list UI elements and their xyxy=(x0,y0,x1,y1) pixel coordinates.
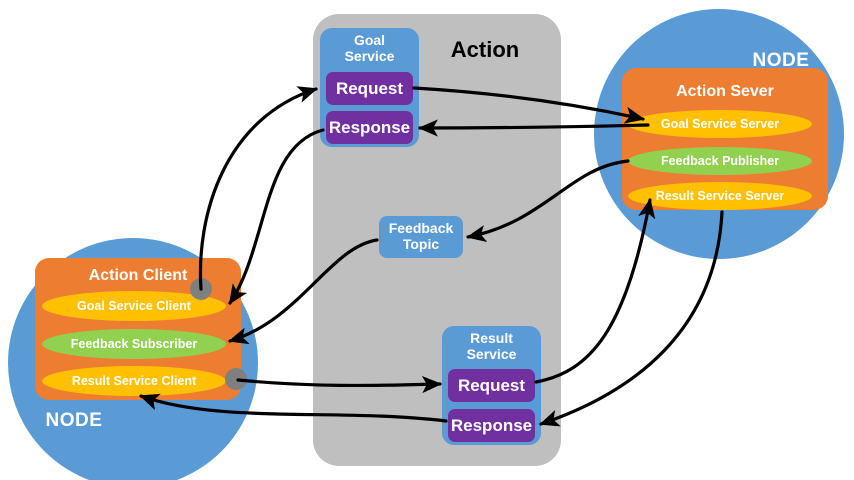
arrow-client-to-result-request xyxy=(238,380,440,385)
arrow-result-request-to-server xyxy=(536,200,650,382)
arrow-server-to-goal-response xyxy=(420,125,648,128)
arrow-goal-response-to-client xyxy=(230,130,323,303)
arrow-feedback-publisher-to-topic xyxy=(468,161,628,237)
arrow-client-to-goal-request xyxy=(200,89,316,289)
arrow-layer xyxy=(0,0,854,480)
arrow-goal-request-to-server xyxy=(414,88,643,119)
arrow-server-to-result-response xyxy=(541,212,722,424)
action-diagram-canvas: Action Goal Service Request Response Fee… xyxy=(0,0,854,480)
arrow-result-response-to-client xyxy=(141,396,446,421)
